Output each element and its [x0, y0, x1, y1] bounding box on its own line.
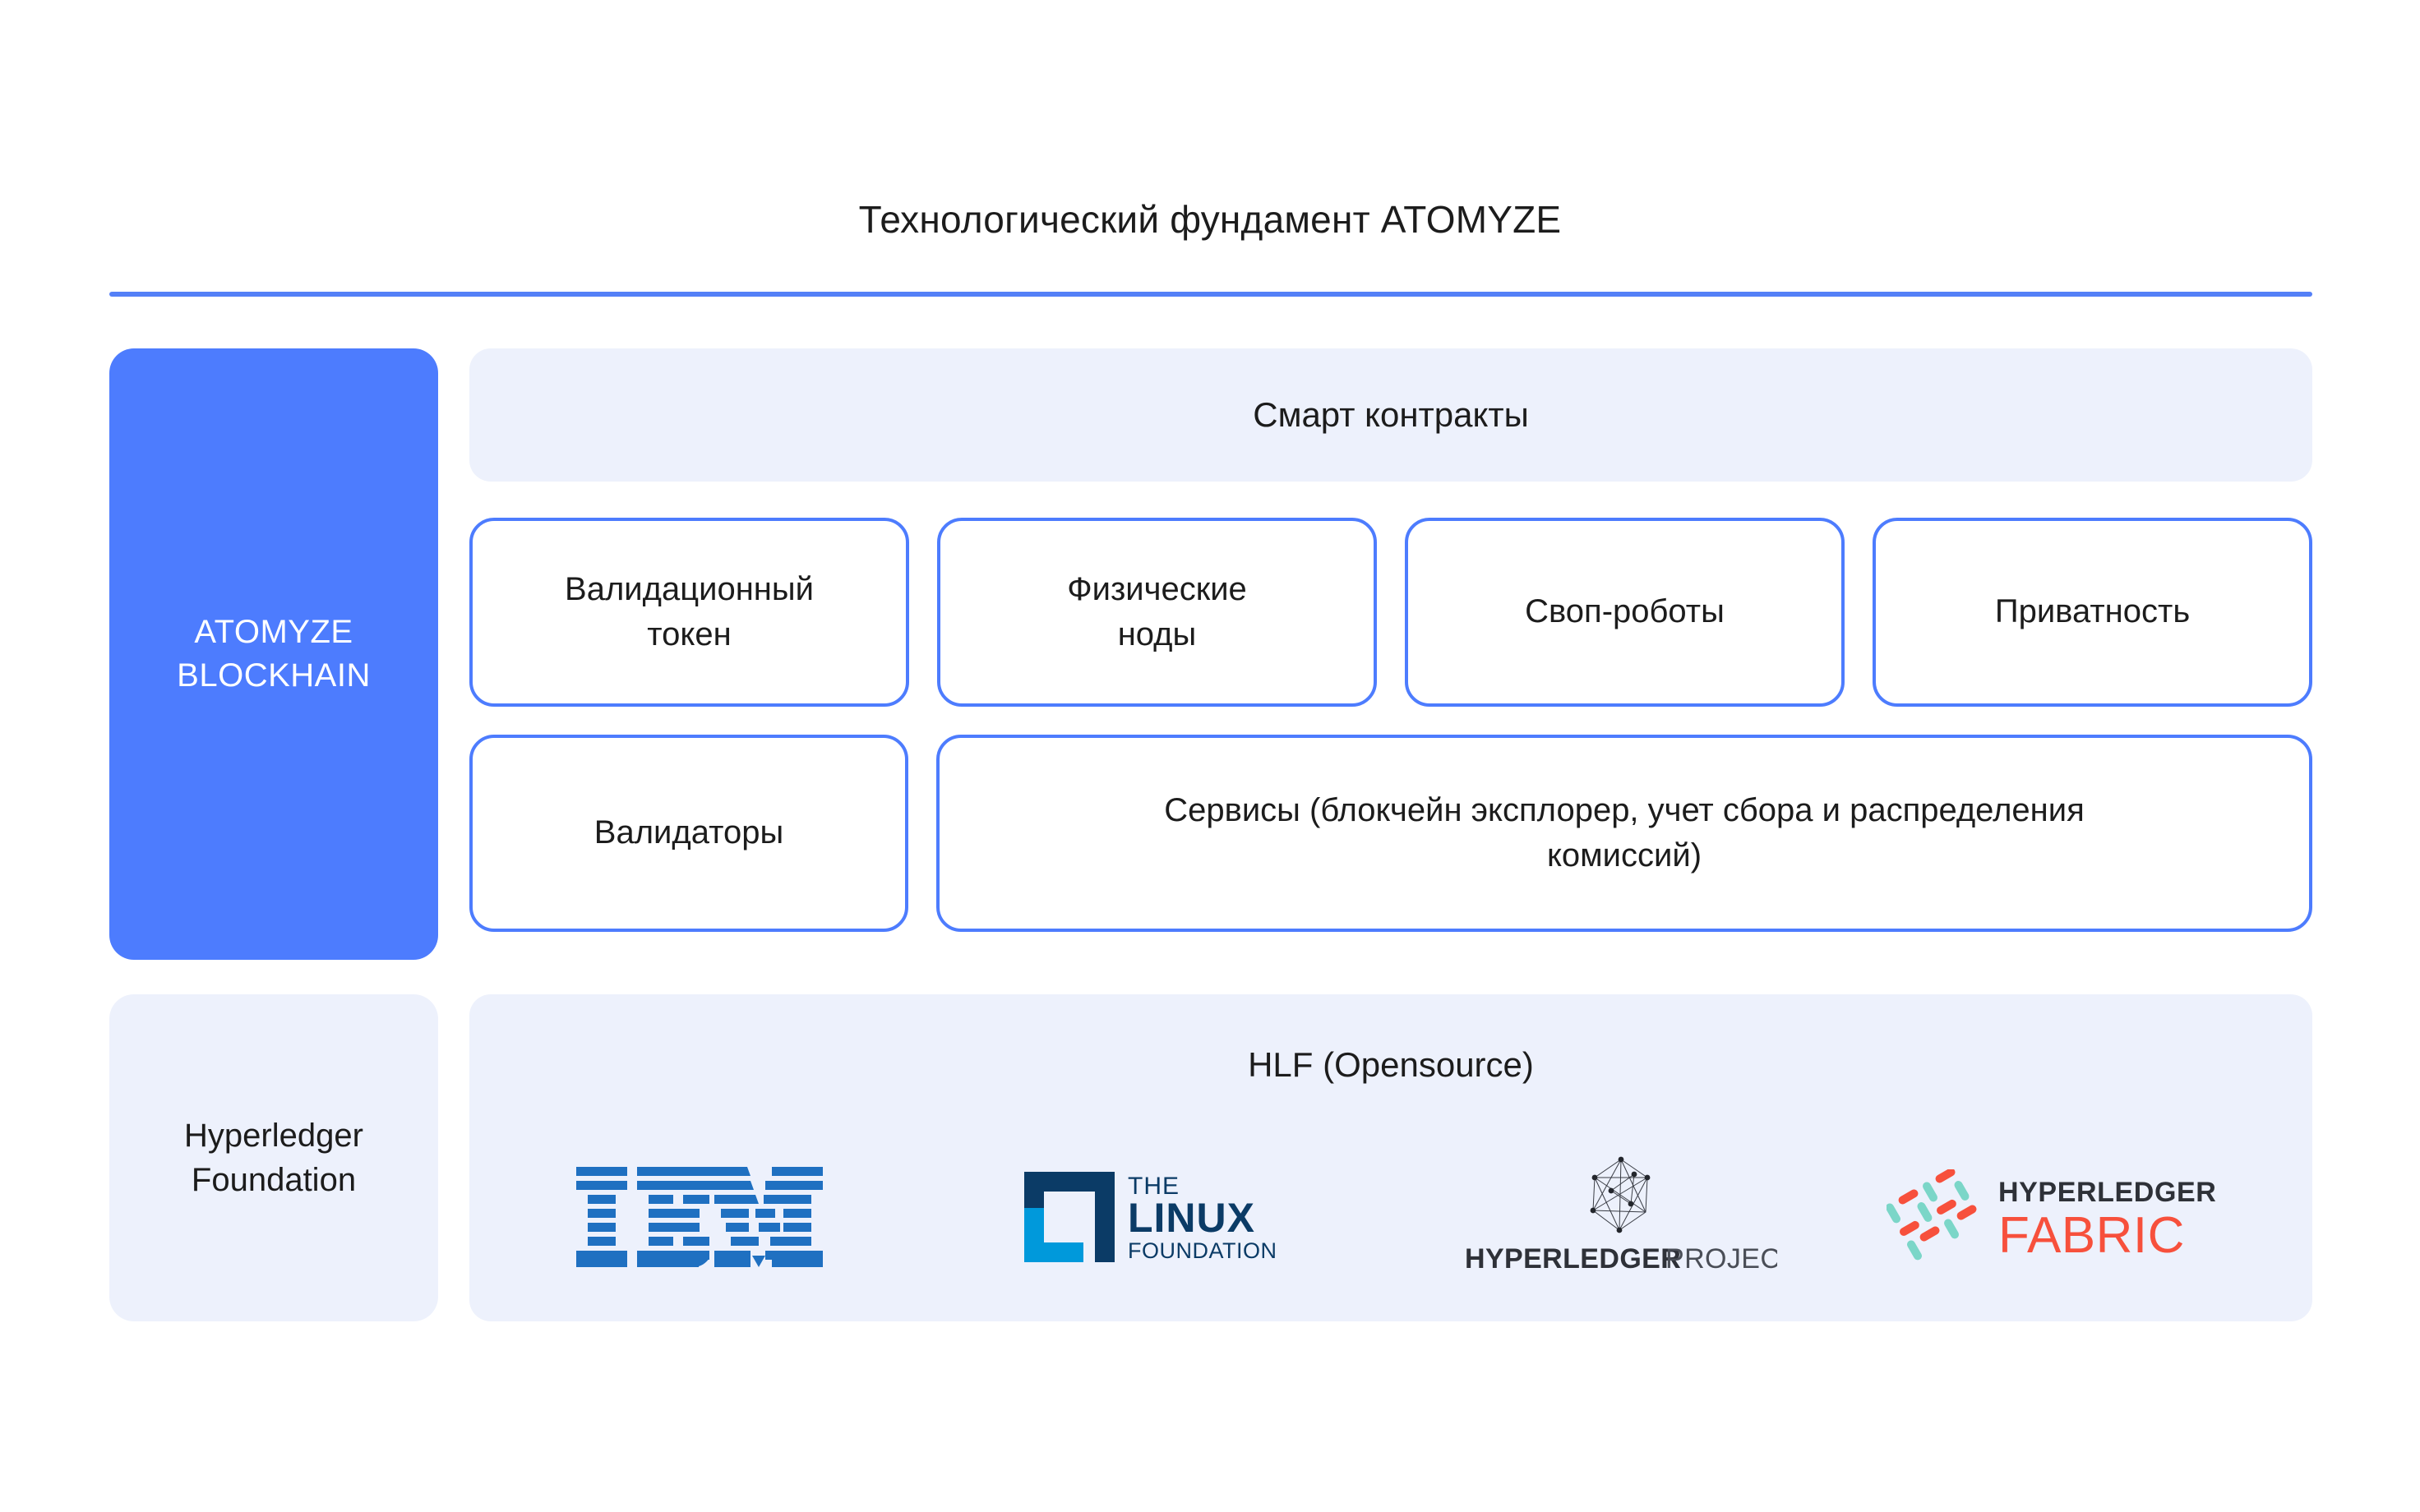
page-title: Технологический фундамент ATOMYZE: [0, 197, 2420, 242]
svg-text:FABRIC: FABRIC: [1998, 1207, 2185, 1261]
atomyze-blockchain-block: ATOMYZE BLOCKHAIN: [109, 348, 438, 960]
card-label: Своп-роботы: [1525, 589, 1725, 634]
svg-text:LINUX: LINUX: [1128, 1195, 1255, 1241]
card-validators[interactable]: Валидаторы: [469, 735, 908, 932]
smart-contracts-band: Смарт контракты: [469, 348, 2312, 482]
logo-cell-hyperledger-fabric: HYPERLEDGER FABRIC: [1852, 1139, 2313, 1295]
logo-cell-ibm: [469, 1139, 931, 1295]
card-label: Валидаторы: [594, 810, 783, 855]
linux-foundation-logo: THE LINUX FOUNDATION: [1024, 1171, 1297, 1263]
hyperledger-foundation-label: Hyperledger Foundation: [184, 1113, 363, 1202]
card-physical-nodes[interactable]: Физические ноды: [937, 518, 1377, 707]
atomyze-blockchain-label: ATOMYZE BLOCKHAIN: [177, 611, 371, 698]
card-label: Приватность: [1995, 589, 2190, 634]
card-services[interactable]: Сервисы (блокчейн эксплорер, учет сбора …: [936, 735, 2312, 932]
svg-text:HYPERLEDGER: HYPERLEDGER: [1998, 1177, 2216, 1208]
hyperledger-project-logo: HYPERLEDGER PROJECT: [1465, 1156, 1777, 1278]
svg-text:PROJECT: PROJECT: [1665, 1243, 1777, 1275]
feature-card-row-2: Валидаторы Сервисы (блокчейн эксплорер, …: [469, 735, 2312, 932]
title-divider: [109, 292, 2312, 297]
architecture-board: ATOMYZE BLOCKHAIN Hyperledger Foundation…: [109, 348, 2312, 1321]
card-validation-token[interactable]: Валидационный токен: [469, 518, 909, 707]
linux-foundation-mark: [1024, 1172, 1115, 1262]
card-swap-robots[interactable]: Своп-роботы: [1405, 518, 1845, 707]
hyperledger-project-wordmark: HYPERLEDGER PROJECT: [1465, 1240, 1777, 1278]
logo-cell-hyperledger-project: HYPERLEDGER PROJECT: [1391, 1139, 1852, 1295]
smart-contracts-label: Смарт контракты: [1253, 395, 1529, 435]
diagram-canvas: Технологический фундамент ATOMYZE ATOMYZ…: [0, 0, 2420, 1512]
fabric-wordmark: HYPERLEDGER FABRIC: [1998, 1173, 2278, 1261]
hyperledger-polyhedron-icon: [1583, 1156, 1659, 1235]
hlf-opensource-panel: HLF (Opensource): [469, 994, 2312, 1321]
card-privacy[interactable]: Приватность: [1873, 518, 2312, 707]
svg-text:HYPERLEDGER: HYPERLEDGER: [1465, 1243, 1681, 1275]
partner-logo-row: THE LINUX FOUNDATION: [469, 1139, 2312, 1295]
feature-card-row-1: Валидационный токен Физические ноды Своп…: [469, 518, 2312, 707]
hlf-label: HLF (Opensource): [469, 1045, 2312, 1085]
hyperledger-fabric-logo: HYPERLEDGER FABRIC: [1887, 1169, 2278, 1265]
fabric-weave-icon: [1887, 1169, 1982, 1265]
hyperledger-foundation-block: Hyperledger Foundation: [109, 994, 438, 1321]
ibm-logo: [576, 1167, 823, 1267]
logo-cell-linux-foundation: THE LINUX FOUNDATION: [931, 1139, 1392, 1295]
svg-text:FOUNDATION: FOUNDATION: [1128, 1238, 1277, 1263]
linux-foundation-wordmark: THE LINUX FOUNDATION: [1128, 1171, 1297, 1263]
card-label: Валидационный токен: [565, 567, 814, 657]
card-label: Физические ноды: [1067, 567, 1247, 657]
card-label: Сервисы (блокчейн эксплорер, учет сбора …: [1164, 788, 2085, 878]
